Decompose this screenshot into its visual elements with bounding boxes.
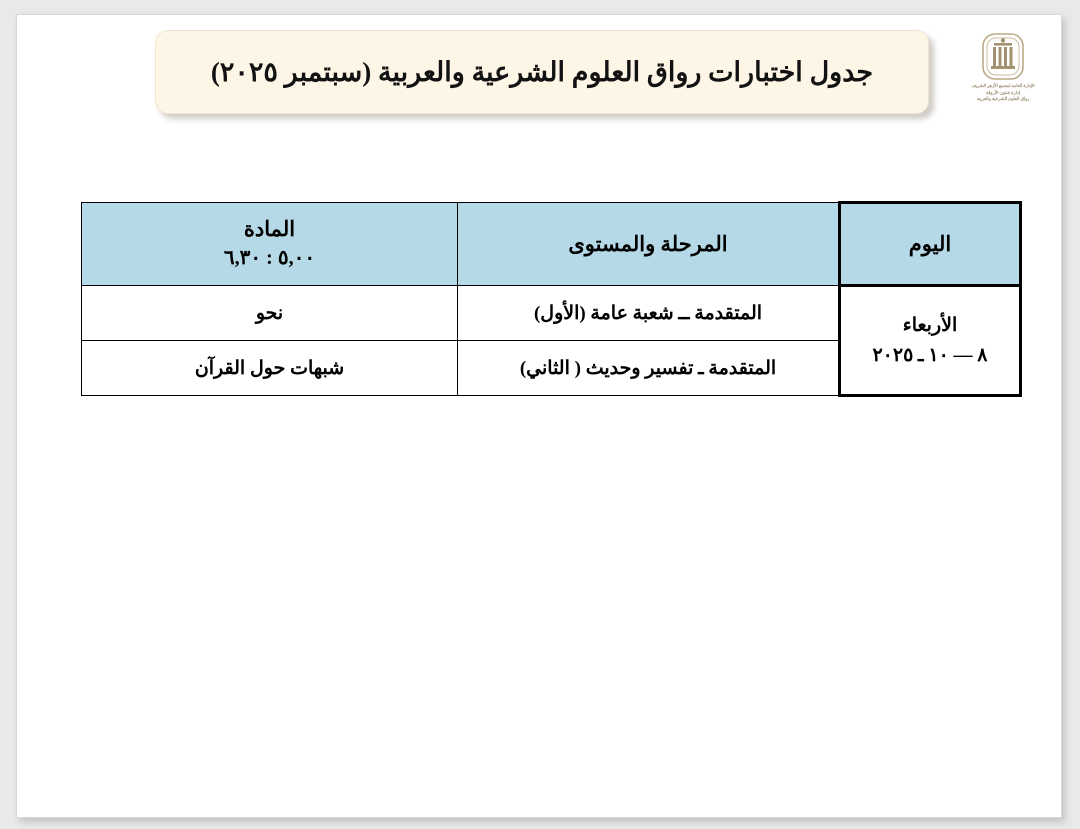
title-banner: جدول اختبارات رواق العلوم الشرعية والعرب…	[155, 30, 929, 114]
column-header-subject-time: ٥,٠٠ : ٦,٣٠	[86, 244, 453, 273]
logo-caption-line-3: رواق العلوم الشرعية والعربية	[977, 96, 1030, 102]
logo-caption: الإدارة العامة لمجمع الأزهر الشريف إدارة…	[971, 83, 1034, 102]
exam-schedule-table: اليوم المرحلة والمستوى المادة ٥,٠٠ : ٦,٣…	[81, 201, 1022, 397]
table-header-row: اليوم المرحلة والمستوى المادة ٥,٠٠ : ٦,٣…	[82, 203, 1021, 286]
cell-day-wednesday: الأربعاء ٨ — ١٠ ـ ٢٠٢٥	[840, 286, 1021, 396]
day-date-text: ٨ — ١٠ ـ ٢٠٢٥	[845, 341, 1015, 371]
cell-stage-row-2: المتقدمة ـ تفسير وحديث ( الثاني)	[458, 341, 840, 396]
table-row: الأربعاء ٨ — ١٠ ـ ٢٠٢٥ المتقدمة ــ شعبة …	[82, 286, 1021, 341]
cell-subject-row-2: شبهات حول القرآن	[82, 341, 458, 396]
column-header-stage: المرحلة والمستوى	[458, 203, 840, 286]
page-title: جدول اختبارات رواق العلوم الشرعية والعرب…	[211, 57, 873, 88]
cell-subject-row-1: نحو	[82, 286, 458, 341]
organization-logo: الإدارة العامة لمجمع الأزهر الشريف إدارة…	[953, 25, 1053, 125]
day-name-text: الأربعاء	[845, 311, 1015, 341]
exam-schedule-table-container: اليوم المرحلة والمستوى المادة ٥,٠٠ : ٦,٣…	[83, 201, 1022, 397]
al-azhar-crest-icon	[982, 33, 1024, 80]
column-header-subject-label: المادة	[86, 215, 453, 244]
logo-caption-line-1: الإدارة العامة لمجمع الأزهر الشريف	[971, 83, 1034, 89]
document-header: جدول اختبارات رواق العلوم الشرعية والعرب…	[17, 15, 1063, 135]
cell-stage-row-1: المتقدمة ــ شعبة عامة (الأول)	[458, 286, 840, 341]
logo-caption-line-2: إدارة شئون الأروقة	[986, 90, 1020, 96]
column-header-subject: المادة ٥,٠٠ : ٦,٣٠	[82, 203, 458, 286]
document-page: جدول اختبارات رواق العلوم الشرعية والعرب…	[16, 14, 1062, 818]
column-header-day: اليوم	[840, 203, 1021, 286]
